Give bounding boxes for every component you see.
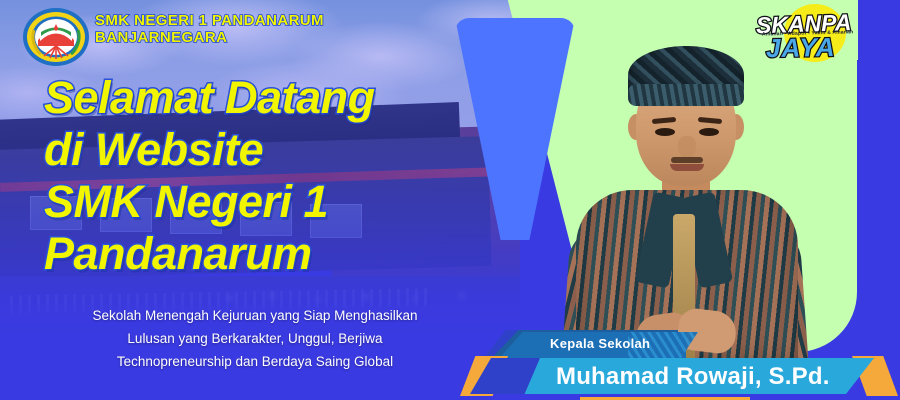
school-name-heading: SMK NEGERI 1 PANDANARUM BANJARNEGARA bbox=[95, 12, 425, 46]
nameplate-name: Muhamad Rowaji, S.Pd. bbox=[556, 363, 886, 391]
welcome-banner: SMK NEGERI 1 PANDANARUM BANJARNEGARA SKA… bbox=[0, 0, 900, 400]
mustache bbox=[671, 157, 703, 163]
heading-line-1: Selamat Datang bbox=[44, 72, 514, 124]
right-eye bbox=[699, 128, 719, 136]
nose bbox=[678, 136, 696, 158]
brand-bottom-text: JAYA bbox=[766, 31, 897, 64]
heading-line-4: Pandanarum bbox=[44, 228, 514, 280]
school-name-line-1: SMK NEGERI 1 PANDANARUM bbox=[95, 12, 425, 29]
heading-line-2: di Website bbox=[44, 124, 514, 176]
subtitle-line-1: Sekolah Menengah Kejuruan yang Siap Meng… bbox=[50, 304, 460, 327]
subtitle-text: Sekolah Menengah Kejuruan yang Siap Meng… bbox=[50, 304, 460, 373]
heading-line-3: SMK Negeri 1 bbox=[44, 176, 514, 228]
school-name-line-2: BANJARNEGARA bbox=[95, 29, 425, 46]
subtitle-line-2: Lulusan yang Berkarakter, Unggul, Berjiw… bbox=[50, 327, 460, 350]
school-crest-icon bbox=[18, 6, 94, 68]
nameplate-title: Kepala Sekolah bbox=[550, 336, 750, 351]
left-eye bbox=[655, 128, 675, 136]
skanpa-jaya-logo: SKANPA Amanah • Adaptif • Yakin & Amanah… bbox=[748, 2, 896, 66]
headmaster-nameplate: Kepala Sekolah Muhamad Rowaji, S.Pd. bbox=[452, 330, 900, 396]
mouth bbox=[670, 164, 704, 171]
subtitle-line-3: Technopreneurship dan Berdaya Saing Glob… bbox=[50, 350, 460, 373]
blangkon-band bbox=[628, 84, 744, 106]
page-title: Selamat Datang di Website SMK Negeri 1 P… bbox=[44, 72, 514, 280]
headmaster-portrait bbox=[540, 18, 830, 352]
